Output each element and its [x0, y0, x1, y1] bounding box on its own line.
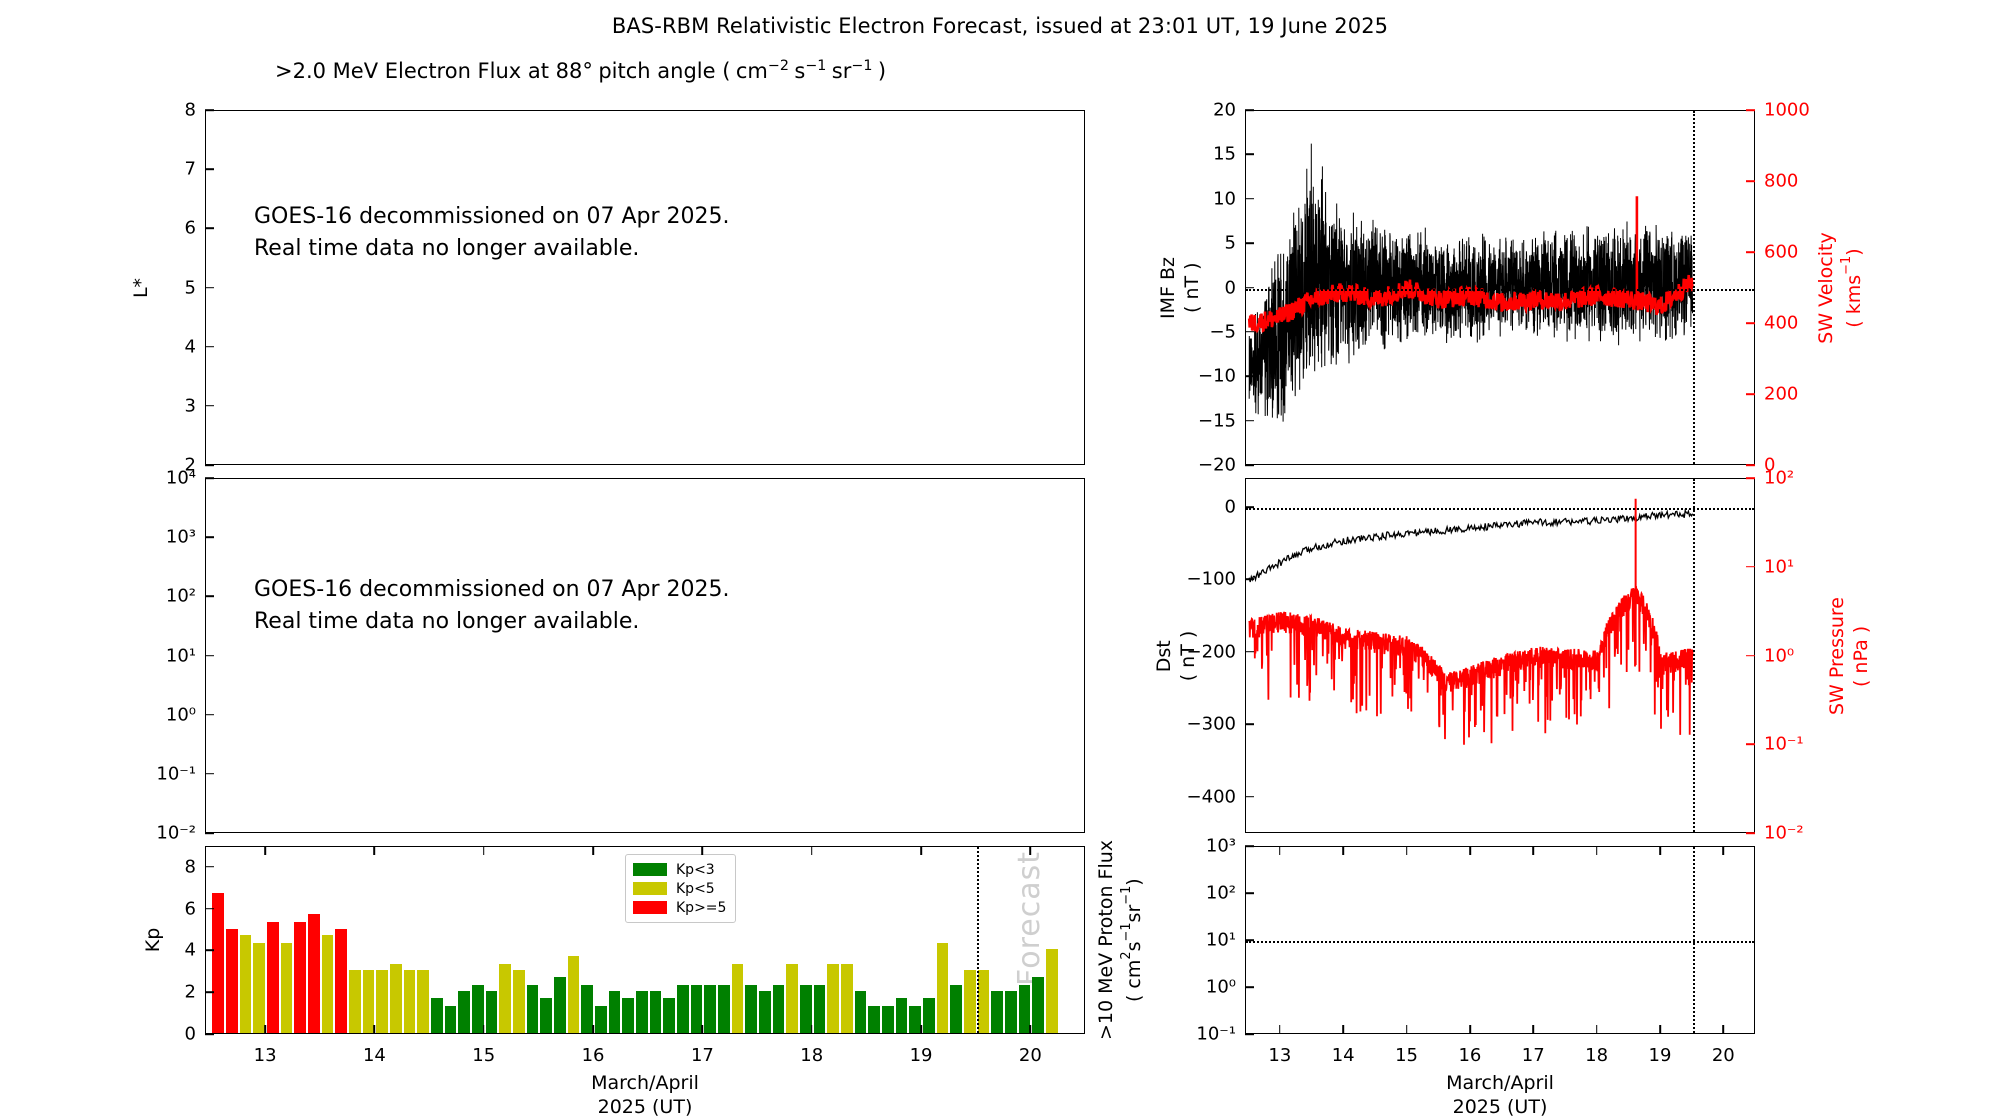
kp-bar: [417, 970, 429, 1033]
proton-y-label-line1: >10 MeV Proton Flux: [1095, 840, 1119, 1040]
y-tick-label: 10²: [1764, 468, 1794, 489]
kp-legend-label: Kp<3: [676, 862, 715, 878]
y-tick-mark: [1245, 651, 1254, 653]
kp-bar: [786, 964, 798, 1033]
kp-bar: [322, 935, 334, 1033]
y-tick-mark: [1245, 939, 1254, 941]
kp-bar: [281, 943, 293, 1033]
swv-unit-s-exponent: −1: [1839, 255, 1854, 274]
y-tick-mark: [205, 477, 214, 479]
y-tick-mark: [1245, 331, 1254, 333]
lstar-axes: GOES-16 decommissioned on 07 Apr 2025. R…: [205, 110, 1085, 465]
unit-cm-exponent: −2: [768, 58, 789, 74]
x-tick-mark: [374, 846, 376, 855]
y-tick-mark: [205, 405, 214, 407]
y-tick-mark: [1245, 845, 1254, 847]
x-tick-label: 14: [1332, 1045, 1355, 1066]
kp-bar: [445, 1006, 457, 1033]
kp-bar: [390, 964, 402, 1033]
proton-y-label-line2: ( cm2s−1sr−1): [1119, 840, 1147, 1040]
y-tick-mark: [205, 536, 214, 538]
y-tick-label: 1000: [1764, 100, 1810, 121]
x-tick-mark: [920, 1025, 922, 1034]
kp-bar: [964, 970, 976, 1033]
kp-bar: [226, 929, 238, 1033]
y-tick-label: 600: [1764, 242, 1798, 263]
y-tick-mark: [205, 346, 214, 348]
proton-unit-cm: ( cm: [1123, 959, 1145, 1001]
y-tick-label: 8: [185, 856, 196, 877]
x-tick-mark: [1659, 846, 1661, 855]
x-tick-label: 17: [1522, 1045, 1545, 1066]
page-title: BAS-RBM Relativistic Electron Forecast, …: [0, 14, 2000, 38]
y-tick-mark: [1746, 477, 1755, 479]
kp-x-label-line2: 2025 (UT): [205, 1096, 1085, 1120]
y-tick-label: −5: [1209, 321, 1236, 342]
figure-canvas: BAS-RBM Relativistic Electron Forecast, …: [0, 0, 2000, 1100]
kp-x-label-line1: March/April: [205, 1072, 1085, 1096]
dst-data-plot: [1246, 479, 1755, 833]
flux-nodata-line2: Real time data no longer available.: [254, 606, 639, 638]
y-tick-mark: [1746, 566, 1755, 568]
y-tick-label: −400: [1187, 786, 1236, 807]
x-tick-mark: [1030, 1025, 1032, 1034]
y-tick-mark: [1746, 251, 1755, 253]
kp-bar: [568, 956, 580, 1033]
imf-zero-line: [1246, 289, 1754, 291]
kp-legend-label: Kp>=5: [676, 900, 726, 916]
y-tick-mark: [1245, 109, 1254, 111]
kp-bar: [896, 998, 908, 1034]
kp-bar: [240, 935, 252, 1033]
kp-legend-row: Kp<3: [633, 860, 726, 879]
y-tick-mark: [1746, 655, 1755, 657]
kp-bar: [527, 985, 539, 1033]
flux-axes: GOES-16 decommissioned on 07 Apr 2025. R…: [205, 478, 1085, 833]
imf-axes: [1245, 110, 1755, 465]
y-tick-mark: [205, 1033, 214, 1035]
x-tick-mark: [1469, 846, 1471, 855]
kp-bar: [1005, 991, 1017, 1033]
proton-unit-cm-exponent: 2: [1119, 951, 1134, 959]
y-tick-mark: [205, 991, 214, 993]
kp-legend-swatch: [633, 882, 667, 895]
y-tick-label: 10⁴: [166, 468, 196, 489]
kp-bar: [718, 985, 730, 1033]
y-tick-label: 10⁰: [1764, 645, 1794, 666]
y-tick-mark: [1245, 464, 1254, 466]
dst-axes: [1245, 478, 1755, 833]
kp-bar: [759, 991, 771, 1033]
kp-bar: [923, 998, 935, 1034]
kp-bar: [663, 998, 675, 1034]
kp-bar: [814, 985, 826, 1033]
y-tick-label: 4: [185, 336, 196, 357]
y-tick-mark: [205, 908, 214, 910]
kp-legend-label: Kp<5: [676, 881, 715, 897]
flux-panel-subtitle: >2.0 MeV Electron Flux at 88°pitch angle…: [275, 58, 886, 83]
kp-bar: [841, 964, 853, 1033]
unit-s-exponent: −1: [805, 58, 826, 74]
y-tick-label: −300: [1187, 714, 1236, 735]
y-tick-label: 5: [1225, 233, 1236, 254]
x-tick-label: 14: [363, 1045, 386, 1066]
y-tick-label: −100: [1187, 569, 1236, 590]
kp-bar: [978, 970, 990, 1033]
x-tick-label: 17: [691, 1045, 714, 1066]
y-tick-mark: [1245, 198, 1254, 200]
x-tick-mark: [1596, 846, 1598, 855]
y-tick-mark: [205, 950, 214, 952]
x-tick-mark: [920, 846, 922, 855]
y-tick-label: 10⁻¹: [1764, 734, 1804, 755]
kp-bar: [363, 970, 375, 1033]
proton-unit-sr-exponent: −1: [1119, 886, 1134, 905]
panel-imf-bz: IMF Bz ( nT ) SW Velocity ( kms−1) 20151…: [1245, 110, 1755, 465]
y-tick-mark: [1245, 724, 1254, 726]
y-tick-mark: [205, 287, 214, 289]
kp-bar: [267, 922, 279, 1033]
y-tick-mark: [1746, 393, 1755, 395]
y-tick-label: −15: [1198, 410, 1236, 431]
subtitle-suffix: ): [878, 59, 886, 83]
y-tick-mark: [1245, 154, 1254, 156]
proton-forecast-divider: [1693, 847, 1695, 1033]
kp-bar: [1046, 949, 1058, 1033]
kp-legend: Kp<3Kp<5Kp>=5: [625, 854, 736, 923]
kp-bar: [991, 991, 1003, 1033]
x-tick-mark: [592, 846, 594, 855]
y-tick-label: 10¹: [166, 645, 196, 666]
kp-bar: [882, 1006, 894, 1033]
y-tick-label: 0: [1225, 496, 1236, 517]
y-tick-mark: [1245, 1033, 1254, 1035]
y-tick-mark: [1245, 420, 1254, 422]
imf-forecast-divider: [1693, 111, 1695, 464]
kp-bar: [622, 998, 634, 1034]
x-tick-mark: [1406, 846, 1408, 855]
y-tick-label: 10: [1213, 188, 1236, 209]
y-tick-mark: [1746, 832, 1755, 834]
sw-pressure-axis-label: SW Pressure ( nPa ): [1826, 596, 1874, 714]
x-tick-mark: [1279, 1025, 1281, 1034]
kp-bar: [636, 991, 648, 1033]
kp-bar: [773, 985, 785, 1033]
sw-pressure-trace: [1249, 586, 1692, 745]
unit-s: s: [794, 59, 805, 83]
y-tick-label: 5: [185, 277, 196, 298]
y-tick-mark: [205, 228, 214, 230]
dst-forecast-divider: [1693, 479, 1695, 832]
kp-bar: [950, 985, 962, 1033]
panel-dst: Dst ( nT ) SW Pressure ( nPa ) 0−100−200…: [1245, 478, 1755, 833]
x-tick-mark: [1279, 846, 1281, 855]
y-tick-label: 20: [1213, 100, 1236, 121]
lstar-y-axis-label: L*: [131, 277, 153, 297]
imf-bz-trace: [1249, 144, 1692, 422]
x-tick-label: 15: [472, 1045, 495, 1066]
kp-bar: [212, 893, 224, 1033]
x-tick-mark: [1406, 1025, 1408, 1034]
y-tick-label: 10¹: [1764, 556, 1794, 577]
x-tick-label: 16: [1458, 1045, 1481, 1066]
kp-bar: [513, 970, 525, 1033]
y-tick-mark: [1245, 579, 1254, 581]
y-tick-mark: [1746, 743, 1755, 745]
x-tick-label: 19: [910, 1045, 933, 1066]
kp-bar: [609, 991, 621, 1033]
sw-velocity-label-line2: ( kms−1): [1839, 232, 1867, 343]
x-tick-label: 13: [254, 1045, 277, 1066]
y-tick-label: 10⁻¹: [156, 763, 196, 784]
sw-pressure-label-line1: SW Pressure: [1826, 596, 1850, 714]
y-tick-label: 15: [1213, 144, 1236, 165]
panel-kp: Forecast Kp<3Kp<5Kp>=5 Kp 86420 13141516…: [205, 846, 1085, 1034]
x-tick-mark: [592, 1025, 594, 1034]
x-tick-mark: [1030, 846, 1032, 855]
y-tick-label: 800: [1764, 171, 1798, 192]
x-tick-mark: [483, 1025, 485, 1034]
kp-forecast-divider: [977, 847, 979, 1033]
dst-trace: [1249, 511, 1692, 582]
kp-bar: [486, 991, 498, 1033]
proton-unit-sr: sr: [1123, 905, 1145, 923]
x-tick-mark: [1659, 1025, 1661, 1034]
x-tick-label: 15: [1395, 1045, 1418, 1066]
y-tick-label: −20: [1198, 455, 1236, 476]
y-tick-mark: [1245, 892, 1254, 894]
kp-bar: [677, 985, 689, 1033]
y-tick-label: 10¹: [1206, 930, 1236, 951]
x-tick-mark: [1342, 1025, 1344, 1034]
kp-x-axis-label: March/April 2025 (UT): [205, 1072, 1085, 1120]
proton-unit-close: ): [1123, 878, 1145, 885]
x-tick-label: 20: [1712, 1045, 1735, 1066]
forecast-watermark: Forecast: [1012, 851, 1047, 986]
x-tick-mark: [1469, 1025, 1471, 1034]
kp-bar: [308, 914, 320, 1033]
y-tick-label: 8: [185, 100, 196, 121]
x-tick-mark: [374, 1025, 376, 1034]
kp-y-axis-label: Kp: [143, 928, 165, 953]
x-tick-mark: [264, 846, 266, 855]
x-tick-mark: [702, 1025, 704, 1034]
y-tick-label: 10⁻²: [156, 823, 196, 844]
kp-bar: [294, 922, 306, 1033]
kp-bar: [253, 943, 265, 1033]
y-tick-mark: [205, 168, 214, 170]
swv-unit-s: s: [1843, 274, 1865, 284]
kp-bar: [704, 985, 716, 1033]
sw-pressure-label-line2: ( nPa ): [1849, 596, 1873, 714]
y-tick-label: 10⁻¹: [1196, 1024, 1236, 1045]
y-tick-mark: [1245, 796, 1254, 798]
x-tick-mark: [1342, 846, 1344, 855]
imf-y-label-line1: IMF Bz: [1157, 257, 1181, 319]
kp-bar: [335, 929, 347, 1033]
x-tick-label: 18: [1585, 1045, 1608, 1066]
x-tick-mark: [483, 846, 485, 855]
imf-y-label-line2: ( nT ): [1181, 257, 1205, 319]
kp-bar: [732, 964, 744, 1033]
imf-y-axis-label: IMF Bz ( nT ): [1157, 257, 1205, 319]
y-tick-label: 10⁰: [166, 704, 196, 725]
kp-bar: [650, 991, 662, 1033]
proton-x-label-line1: March/April: [1245, 1072, 1755, 1096]
y-tick-mark: [1746, 180, 1755, 182]
y-tick-mark: [205, 109, 214, 111]
y-tick-mark: [205, 773, 214, 775]
y-tick-label: 2: [185, 982, 196, 1003]
x-tick-label: 20: [1019, 1045, 1042, 1066]
y-tick-label: −10: [1198, 366, 1236, 387]
y-tick-label: 6: [185, 898, 196, 919]
y-tick-mark: [1245, 506, 1254, 508]
y-tick-label: 0: [185, 1024, 196, 1045]
y-tick-label: 6: [185, 218, 196, 239]
kp-bar: [431, 998, 443, 1034]
x-tick-mark: [1723, 1025, 1725, 1034]
kp-legend-swatch: [633, 901, 667, 914]
y-tick-label: 10³: [166, 527, 196, 548]
y-tick-mark: [205, 655, 214, 657]
dst-zero-line: [1246, 508, 1754, 510]
y-tick-mark: [1746, 109, 1755, 111]
y-tick-mark: [1245, 986, 1254, 988]
proton-unit-s: s: [1123, 941, 1145, 951]
kp-bar: [540, 998, 552, 1034]
y-tick-label: 4: [185, 940, 196, 961]
x-tick-mark: [1532, 1025, 1534, 1034]
kp-bar: [458, 991, 470, 1033]
kp-bar: [745, 985, 757, 1033]
swv-unit-km: ( km: [1843, 284, 1865, 327]
proton-axes: [1245, 846, 1755, 1034]
sw-velocity-axis-label: SW Velocity ( kms−1): [1815, 232, 1867, 343]
kp-bar: [554, 977, 566, 1033]
x-tick-mark: [264, 1025, 266, 1034]
sw-velocity-label-line1: SW Velocity: [1815, 232, 1839, 343]
y-tick-mark: [205, 832, 214, 834]
unit-cm: cm: [736, 59, 768, 83]
y-tick-label: 0: [1225, 277, 1236, 298]
kp-bar: [1032, 977, 1044, 1033]
y-tick-mark: [1245, 375, 1254, 377]
kp-bar: [404, 970, 416, 1033]
y-tick-mark: [1746, 322, 1755, 324]
x-tick-label: 18: [800, 1045, 823, 1066]
y-tick-label: 10⁻²: [1764, 823, 1804, 844]
y-tick-label: −200: [1187, 641, 1236, 662]
y-tick-label: 10²: [166, 586, 196, 607]
kp-legend-row: Kp>=5: [633, 898, 726, 917]
kp-bar: [868, 1006, 880, 1033]
kp-bar: [499, 964, 511, 1033]
x-tick-mark: [811, 846, 813, 855]
x-tick-label: 19: [1649, 1045, 1672, 1066]
kp-bar: [827, 964, 839, 1033]
lstar-nodata-line2: Real time data no longer available.: [254, 233, 639, 265]
y-tick-mark: [205, 596, 214, 598]
x-tick-label: 13: [1268, 1045, 1291, 1066]
x-tick-mark: [1532, 846, 1534, 855]
flux-nodata-line1: GOES-16 decommissioned on 07 Apr 2025.: [254, 574, 730, 606]
degree-symbol: °: [582, 59, 593, 83]
y-tick-label: 10⁰: [1206, 977, 1236, 998]
x-tick-label: 16: [582, 1045, 605, 1066]
y-tick-mark: [205, 866, 214, 868]
dst-y-label-line1: Dst: [1153, 630, 1177, 681]
subtitle-mid: pitch angle (: [598, 59, 730, 83]
kp-legend-row: Kp<5: [633, 879, 726, 898]
proton-y-axis-label: >10 MeV Proton Flux ( cm2s−1sr−1): [1095, 840, 1147, 1040]
y-tick-mark: [1245, 287, 1254, 289]
kp-bar: [376, 970, 388, 1033]
panel-lstar: GOES-16 decommissioned on 07 Apr 2025. R…: [205, 110, 1085, 465]
y-tick-mark: [1746, 464, 1755, 466]
x-tick-mark: [702, 846, 704, 855]
x-tick-mark: [1596, 1025, 1598, 1034]
y-tick-mark: [205, 464, 214, 466]
swv-unit-close: ): [1843, 248, 1865, 255]
proton-threshold-line: [1246, 941, 1754, 943]
proton-x-label-line2: 2025 (UT): [1245, 1096, 1755, 1120]
panel-electron-flux: GOES-16 decommissioned on 07 Apr 2025. R…: [205, 478, 1085, 833]
x-tick-mark: [1723, 846, 1725, 855]
y-tick-label: 10³: [1206, 836, 1236, 857]
unit-sr-exponent: −1: [851, 58, 872, 74]
y-tick-mark: [1245, 242, 1254, 244]
panel-proton-flux: >10 MeV Proton Flux ( cm2s−1sr−1) 10³10²…: [1245, 846, 1755, 1034]
y-tick-mark: [205, 714, 214, 716]
kp-legend-swatch: [633, 863, 667, 876]
kp-bar: [937, 943, 949, 1033]
y-tick-label: 7: [185, 159, 196, 180]
unit-sr: sr: [832, 59, 852, 83]
y-tick-label: 400: [1764, 313, 1798, 334]
y-tick-label: 3: [185, 395, 196, 416]
y-tick-label: 200: [1764, 384, 1798, 405]
subtitle-prefix: >2.0 MeV Electron Flux at 88: [275, 59, 582, 83]
proton-x-axis-label: March/April 2025 (UT): [1245, 1072, 1755, 1120]
y-tick-label: 10²: [1206, 883, 1236, 904]
x-tick-mark: [811, 1025, 813, 1034]
kp-bar: [349, 970, 361, 1033]
kp-bar: [595, 1006, 607, 1033]
kp-bar: [855, 991, 867, 1033]
proton-unit-s-exponent: −1: [1119, 922, 1134, 941]
lstar-nodata-line1: GOES-16 decommissioned on 07 Apr 2025.: [254, 201, 730, 233]
